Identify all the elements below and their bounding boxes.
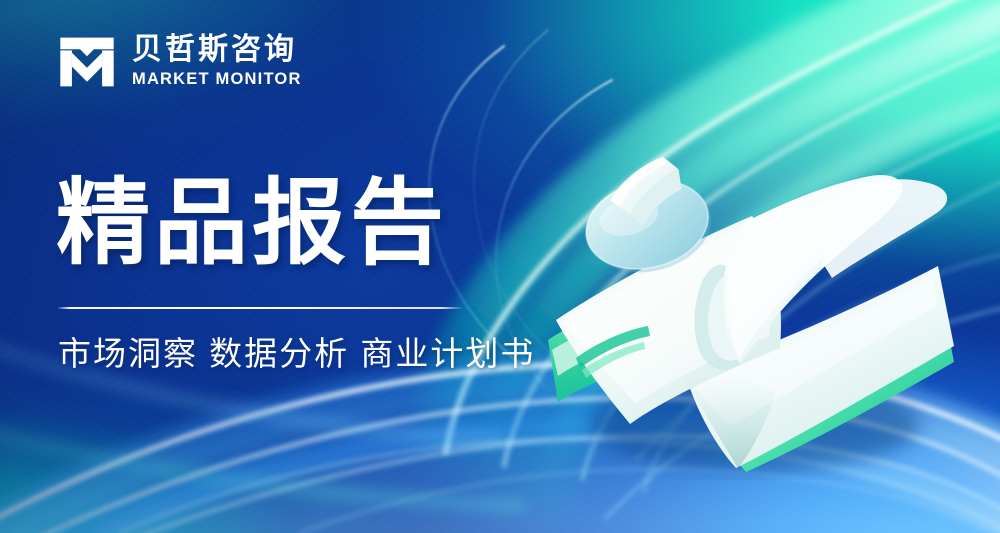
brand-name-cn: 贝哲斯咨询 bbox=[132, 34, 302, 66]
subtitle: 市场洞察 数据分析 商业计划书 bbox=[58, 332, 535, 377]
banner-content: 贝哲斯咨询 MARKET MONITOR 精品报告 市场洞察 数据分析 商业计划… bbox=[58, 0, 528, 533]
market-monitor-m-arrow-icon bbox=[58, 33, 116, 91]
promo-banner: 贝哲斯咨询 MARKET MONITOR 精品报告 市场洞察 数据分析 商业计划… bbox=[0, 0, 1000, 533]
headline-divider bbox=[58, 307, 462, 309]
brand-logo-text: 贝哲斯咨询 MARKET MONITOR bbox=[132, 34, 302, 90]
brand-logo[interactable]: 贝哲斯咨询 MARKET MONITOR bbox=[58, 33, 302, 91]
brand-name-en: MARKET MONITOR bbox=[132, 70, 302, 90]
open-book-with-magnifier-illustration bbox=[540, 150, 970, 480]
page-title: 精品报告 bbox=[56, 176, 448, 270]
